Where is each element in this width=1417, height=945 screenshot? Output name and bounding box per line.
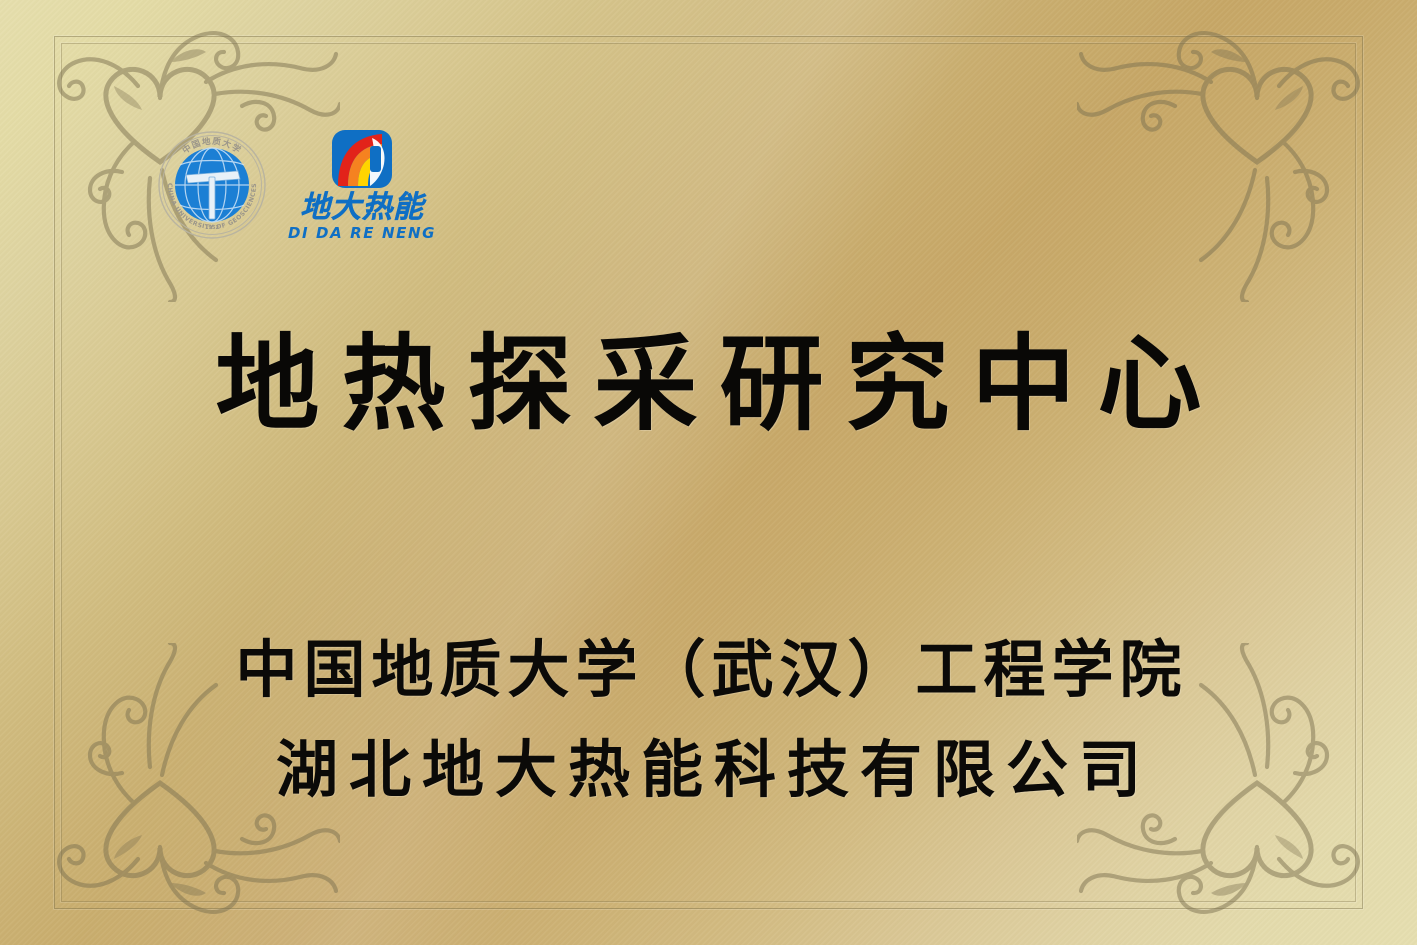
plaque-subtitle-block: 中国地质大学（武汉）工程学院 湖北地大热能科技有限公司 (0, 620, 1417, 821)
plaque-sign: 中国地质大学 CHINA UNIVERSITY OF GEOSCIENCES 1… (0, 0, 1417, 945)
didareneng-logo: 地大热能 DI DA RE NENG (288, 128, 436, 241)
svg-text:1952: 1952 (205, 225, 219, 231)
plaque-subtitle-line-1: 中国地质大学（武汉）工程学院 (0, 620, 1417, 720)
plaque-main-title: 地热探采研究中心 (0, 326, 1417, 442)
logo-row: 中国地质大学 CHINA UNIVERSITY OF GEOSCIENCES 1… (158, 128, 436, 241)
didareneng-chinese-text: 地大热能 (300, 193, 424, 223)
didareneng-mark-icon (330, 128, 394, 190)
didareneng-pinyin-text: DI DA RE NENG (288, 226, 436, 241)
plaque-subtitle-line-2: 湖北地大热能科技有限公司 (0, 720, 1417, 820)
cug-logo-icon: 中国地质大学 CHINA UNIVERSITY OF GEOSCIENCES 1… (158, 131, 266, 239)
